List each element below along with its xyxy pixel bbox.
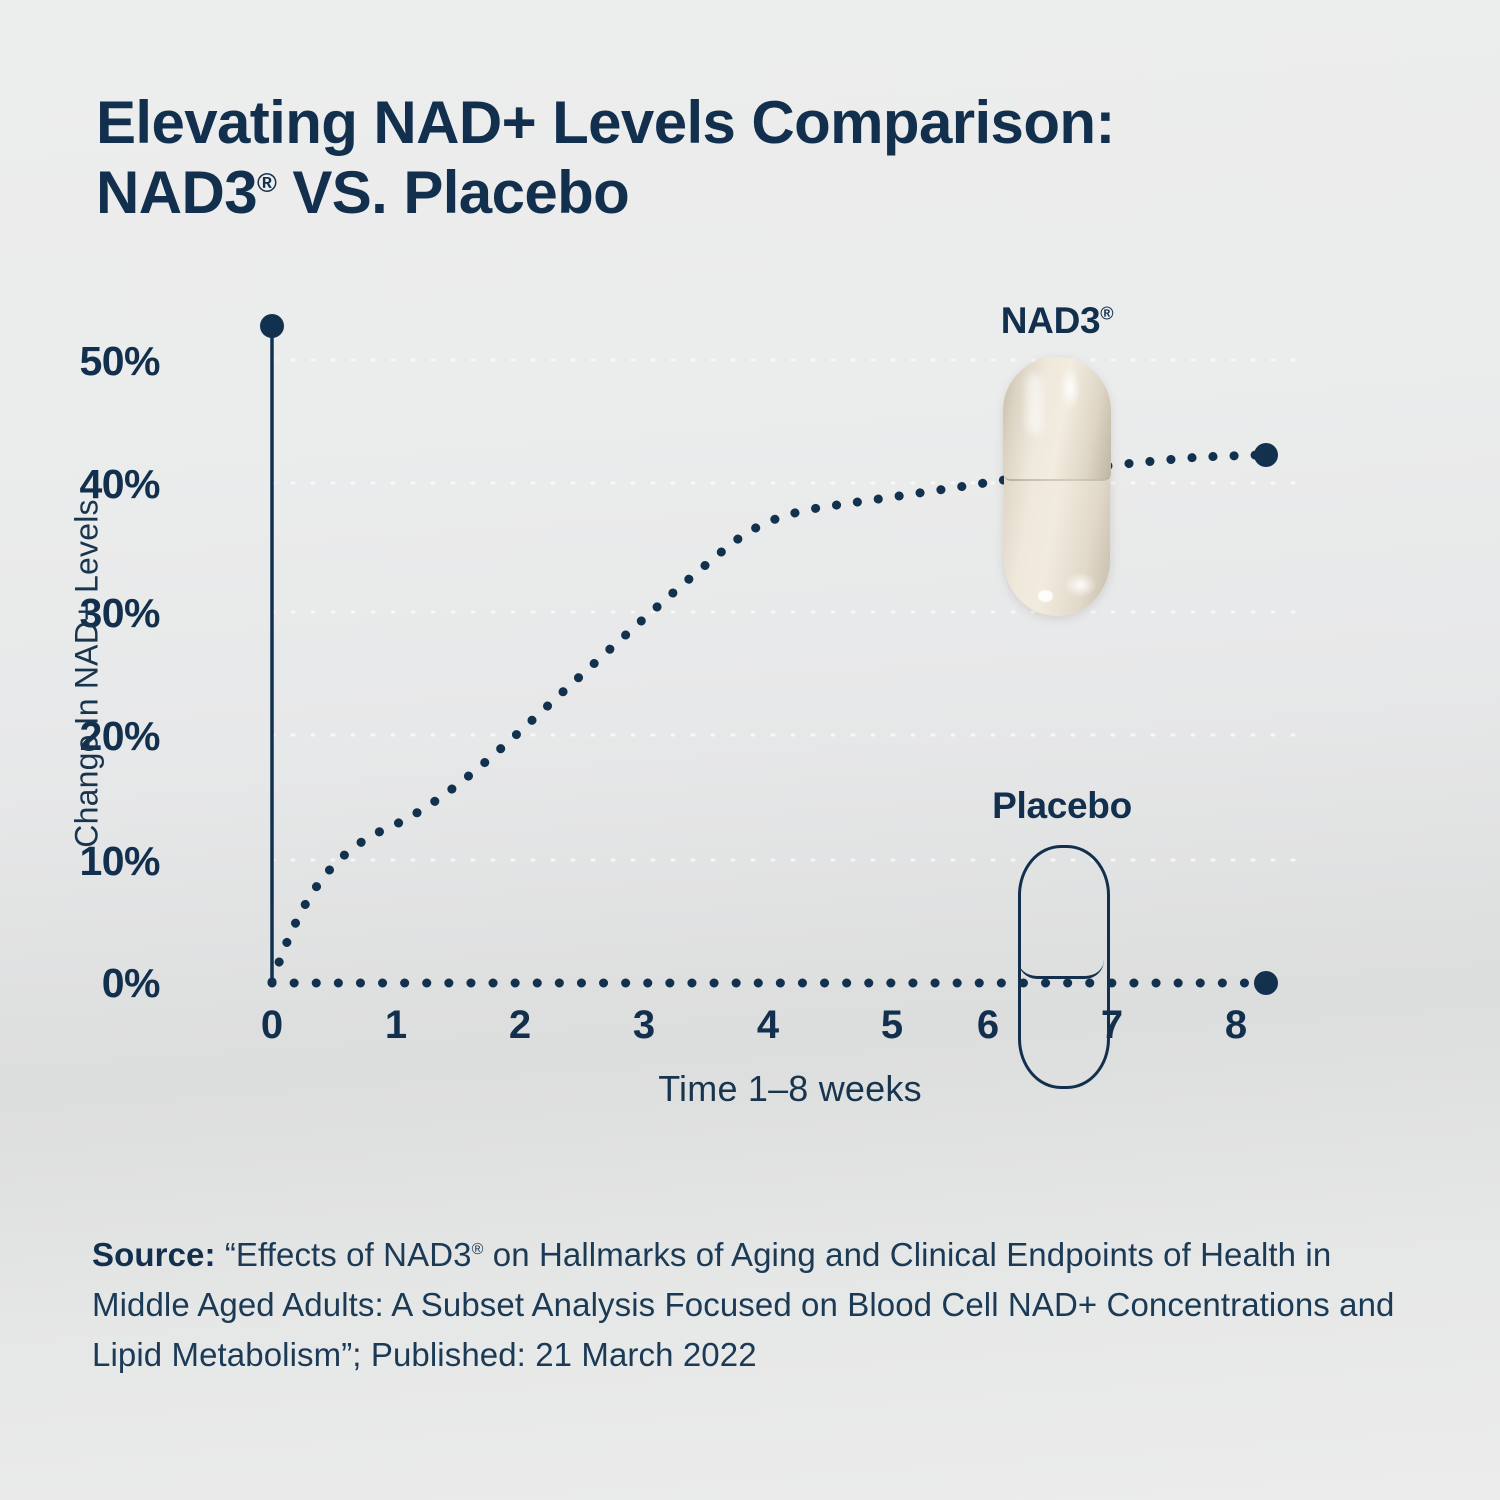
y-axis-title: Change In NAD+ Levels xyxy=(69,479,106,869)
x-tick-6: 6 xyxy=(958,1003,1018,1048)
placebo-endpoint-marker xyxy=(1254,971,1278,995)
nad3-capsule-image xyxy=(1004,358,1110,616)
series-label-nad3-text: NAD3 xyxy=(1001,300,1101,341)
series-label-nad3: NAD3® xyxy=(947,300,1167,342)
y-tick-0: 0% xyxy=(20,960,160,1007)
x-tick-2: 2 xyxy=(490,1003,550,1048)
x-tick-4: 4 xyxy=(738,1003,798,1048)
nad3-series-line xyxy=(272,455,1258,982)
registered-mark-icon: ® xyxy=(1100,304,1113,324)
chart-page: Elevating NAD+ Levels Comparison: NAD3® … xyxy=(0,0,1500,1500)
source-text-a: “Effects of NAD3 xyxy=(216,1236,472,1273)
x-tick-0: 0 xyxy=(242,1003,302,1048)
x-tick-8: 8 xyxy=(1206,1003,1266,1048)
x-axis-title: Time 1–8 weeks xyxy=(480,1068,1100,1110)
y-axis-cap-dot xyxy=(260,314,284,338)
x-tick-3: 3 xyxy=(614,1003,674,1048)
nad3-endpoint-marker xyxy=(1254,443,1278,467)
source-prefix: Source: xyxy=(92,1236,216,1273)
chart-area: 50% 40% 30% 20% 10% 0% 0 1 2 3 4 5 6 7 8… xyxy=(0,0,1500,1180)
capsule-top-half xyxy=(1003,357,1111,481)
x-tick-5: 5 xyxy=(862,1003,922,1048)
y-tick-50: 50% xyxy=(20,338,160,385)
x-tick-1: 1 xyxy=(366,1003,426,1048)
placebo-capsule-outline xyxy=(1018,845,1110,1089)
source-citation: Source: “Effects of NAD3® on Hallmarks o… xyxy=(92,1230,1422,1380)
capsule-specular-dot xyxy=(1038,590,1053,602)
series-label-placebo: Placebo xyxy=(952,785,1172,827)
capsule-divider-line xyxy=(1018,960,1104,979)
capsule-highlight xyxy=(1026,374,1042,434)
registered-mark-icon: ® xyxy=(472,1241,484,1258)
